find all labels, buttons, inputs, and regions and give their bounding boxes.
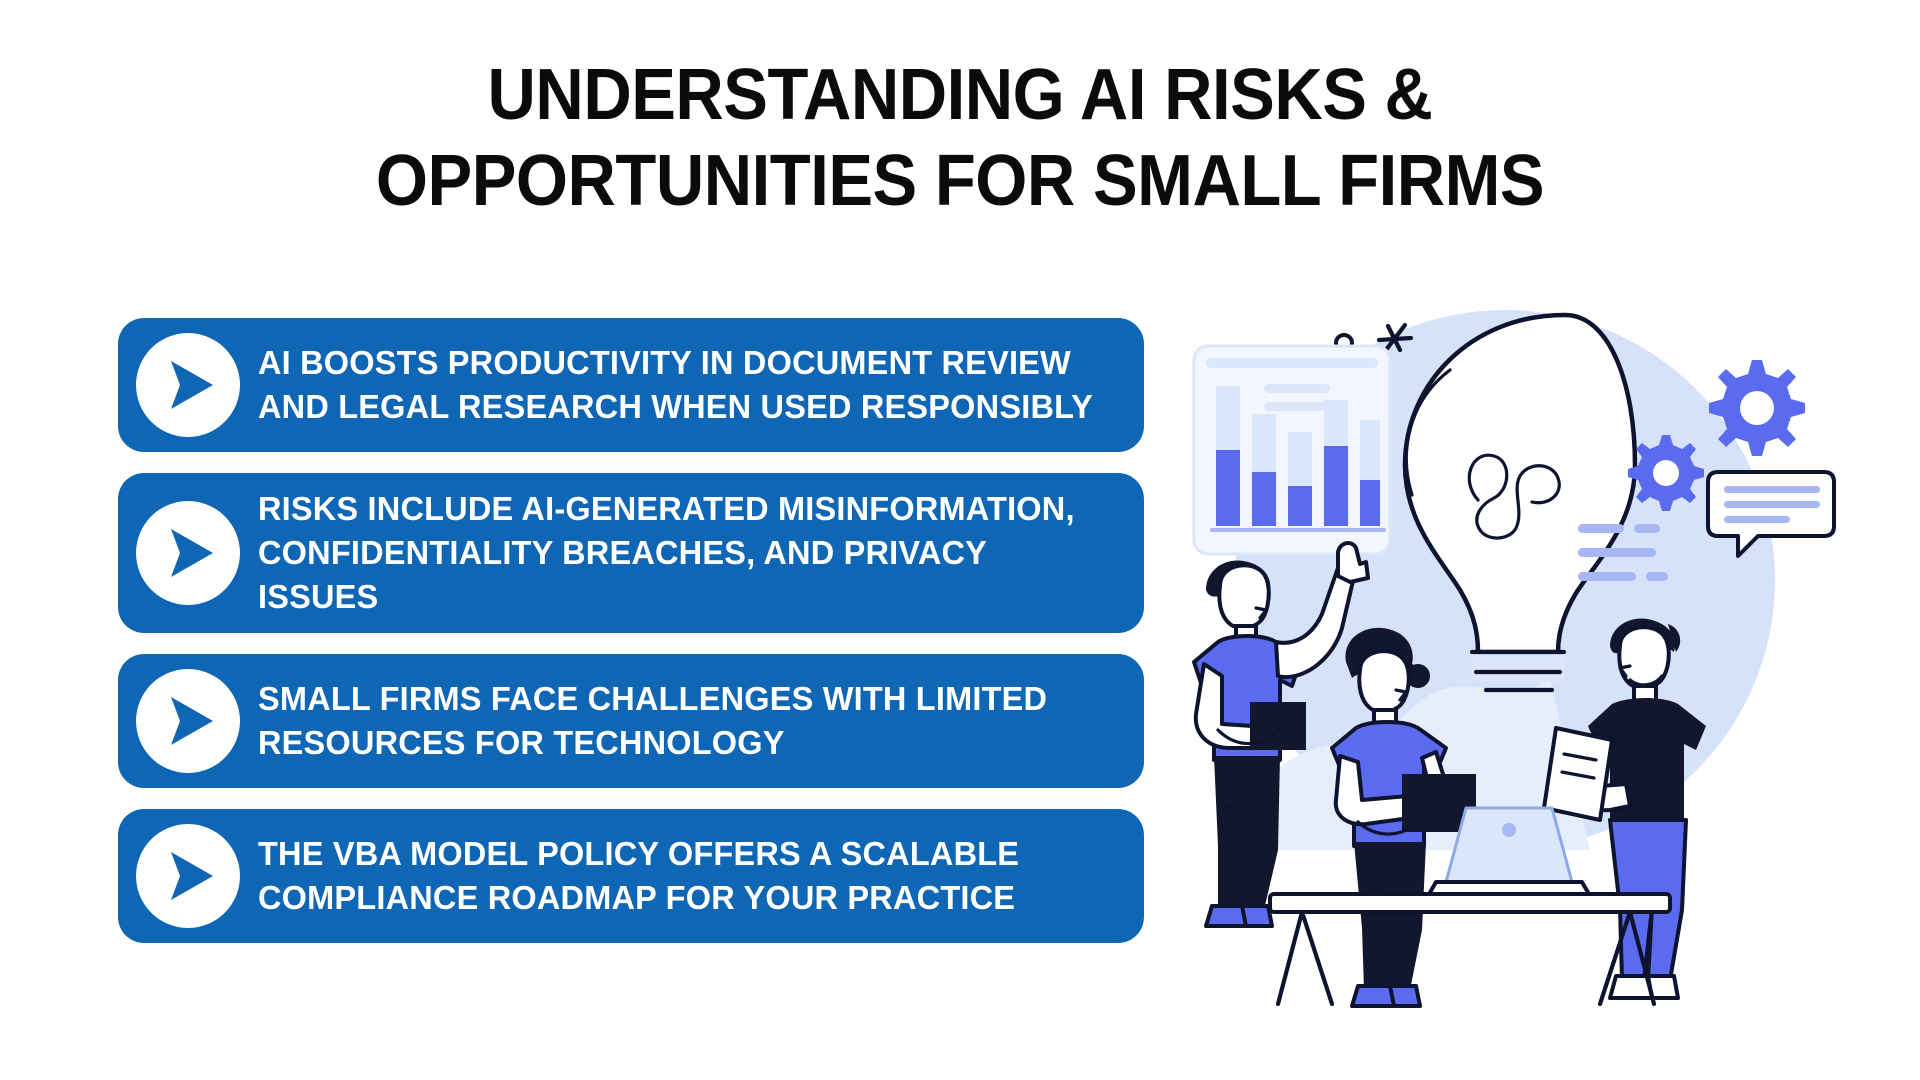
play-arrow-icon [136, 333, 240, 437]
key-point-card-1-label: AI BOOSTS PRODUCTIVITY IN DOCUMENT REVIE… [258, 341, 1131, 429]
key-point-card-3-label: SMALL FIRMS FACE CHALLENGES WITH LIMITED… [258, 677, 1131, 765]
key-point-card-2-label: RISKS INCLUDE AI-GENERATED MISINFORMATIO… [258, 487, 1131, 619]
key-points-list: AI BOOSTS PRODUCTIVITY IN DOCUMENT REVIE… [118, 318, 1148, 964]
key-point-card-4-label: THE VBA MODEL POLICY OFFERS A SCALABLE C… [258, 832, 1131, 920]
play-arrow-icon [136, 824, 240, 928]
gear-large-icon [1709, 360, 1805, 456]
team-ai-ideas-illustration: .ink{fill:none;stroke:#0E1330;stroke-wid… [1160, 290, 1860, 1010]
key-point-card-1[interactable]: AI BOOSTS PRODUCTIVITY IN DOCUMENT REVIE… [118, 318, 1144, 452]
page-title-line-1: UNDERSTANDING AI RISKS & [67, 52, 1853, 138]
key-point-card-2[interactable]: RISKS INCLUDE AI-GENERATED MISINFORMATIO… [118, 473, 1144, 633]
gear-small-icon [1628, 435, 1704, 511]
play-arrow-icon [136, 501, 240, 605]
key-point-card-3[interactable]: SMALL FIRMS FACE CHALLENGES WITH LIMITED… [118, 654, 1144, 788]
play-arrow-icon [136, 669, 240, 773]
page-title-line-2: OPPORTUNITIES FOR SMALL FIRMS [67, 138, 1853, 224]
desk [1270, 894, 1670, 1004]
infographic-canvas: UNDERSTANDING AI RISKS & OPPORTUNITIES F… [0, 0, 1920, 1080]
page-title: UNDERSTANDING AI RISKS & OPPORTUNITIES F… [0, 52, 1920, 224]
bar-chart-panel [1194, 346, 1390, 554]
key-point-card-4[interactable]: THE VBA MODEL POLICY OFFERS A SCALABLE C… [118, 809, 1144, 943]
